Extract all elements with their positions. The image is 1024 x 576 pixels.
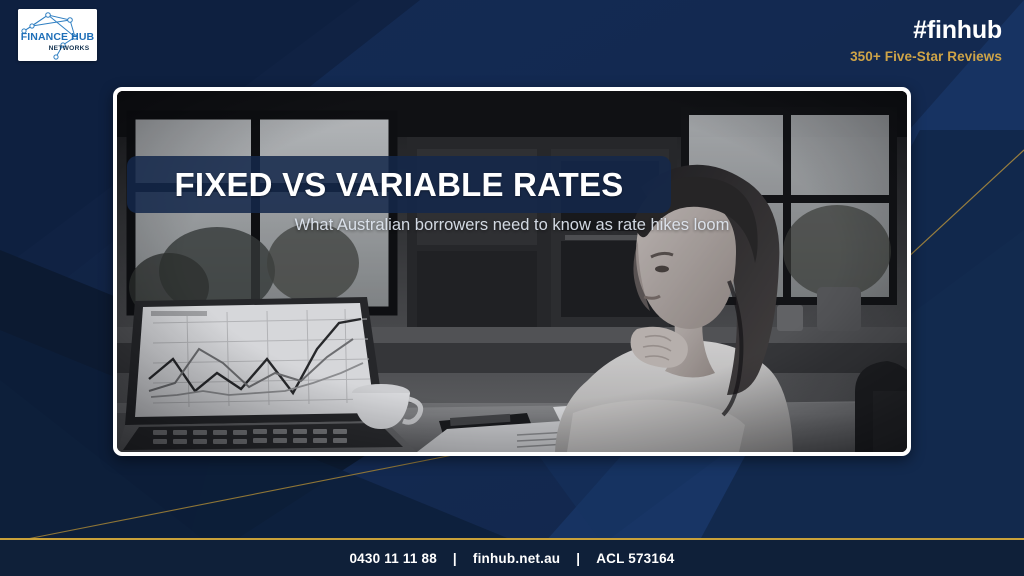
footer-separator-2: | [576, 551, 580, 566]
footer-license: ACL 573164 [596, 551, 674, 566]
footer-separator-1: | [453, 551, 457, 566]
headline-panel: FIXED VS VARIABLE RATES [127, 156, 671, 213]
reviews-label: 350+ Five-Star Reviews [850, 50, 1002, 64]
header-bar: FINANCE HUB NETWORKS #finhub 350+ Five-S… [0, 0, 1024, 80]
headline-text: FIXED VS VARIABLE RATES [175, 166, 624, 204]
hashtag-label: #finhub [850, 18, 1002, 43]
logo-secondary-text: NETWORKS [49, 45, 90, 52]
footer-phone[interactable]: 0430 11 11 88 [349, 551, 436, 566]
footer-contact-line: 0430 11 11 88 | finhub.net.au | ACL 5731… [349, 551, 674, 566]
brand-tagline-block: #finhub 350+ Five-Star Reviews [850, 18, 1002, 64]
subtitle-text: What Australian borrowers need to know a… [113, 216, 911, 235]
footer-bar: 0430 11 11 88 | finhub.net.au | ACL 5731… [0, 538, 1024, 576]
social-post-slide: FINANCE HUB NETWORKS #finhub 350+ Five-S… [0, 0, 1024, 576]
footer-website[interactable]: finhub.net.au [473, 551, 560, 566]
hero-photo-card [113, 87, 911, 456]
logo-primary-text: FINANCE HUB [21, 31, 95, 43]
hero-photo-artwork [117, 91, 907, 452]
logo-artwork: FINANCE HUB NETWORKS [18, 9, 97, 61]
brand-logo[interactable]: FINANCE HUB NETWORKS [18, 9, 97, 61]
hero-photo [117, 91, 907, 452]
